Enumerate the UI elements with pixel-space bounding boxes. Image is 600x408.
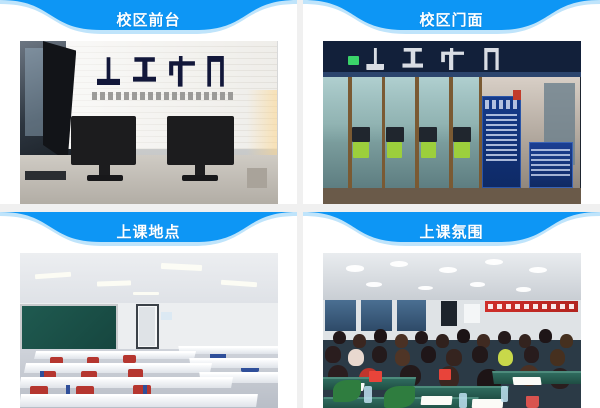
ribbon-banner: 上课氛围 [303, 212, 600, 250]
photo-dark-panel [441, 301, 456, 326]
photo-frame-classroom [20, 253, 278, 408]
photo-warm-glow [247, 90, 278, 165]
photo-frame-storefront [323, 41, 581, 204]
photo-floor [20, 155, 278, 204]
photo-attendee-head [348, 349, 363, 366]
photo-notebook [472, 399, 504, 408]
photo-ceiling-light [390, 261, 408, 267]
photo-attendee-head [421, 346, 436, 363]
photo-workstation [352, 127, 370, 142]
photo-notebook [420, 396, 452, 405]
photo-attendee-head [353, 334, 366, 348]
photo-window-blind [325, 300, 356, 331]
photo-attendee-head [498, 349, 513, 366]
reception-desk-photo [20, 41, 278, 204]
photo-tent-card [369, 371, 382, 382]
photo-window-mullion [415, 77, 419, 194]
photo-sign-english [92, 92, 236, 100]
photo-drink-cup [526, 396, 539, 408]
photo-workstation [453, 127, 471, 142]
photo-window-mullion [382, 77, 386, 194]
photo-water-bottle [459, 393, 467, 408]
empty-classroom-photo [20, 253, 278, 408]
photo-water-bottle [501, 386, 509, 402]
photo-ceiling-light [97, 280, 131, 286]
photo-sill [323, 188, 581, 204]
photo-notebook [513, 377, 542, 385]
photo-green-led [348, 56, 358, 66]
photo-attendee-head [395, 334, 408, 348]
card-campus-storefront[interactable]: 校区门面 [303, 0, 600, 204]
photo-sign-underglow [323, 72, 581, 77]
photo-water-bottle [364, 386, 372, 403]
photo-banner-stand-text [486, 114, 517, 163]
photo-banner-stand-small-text [531, 149, 570, 178]
card-classroom-location[interactable]: 上课地点 [0, 212, 297, 408]
photo-door-panel [139, 307, 154, 346]
ribbon-banner: 上课地点 [0, 212, 297, 250]
photo-tent-card [439, 369, 452, 380]
photo-green-chair [454, 142, 469, 158]
photo-banner-stand-header [485, 100, 519, 110]
ribbon-banner: 校区前台 [0, 0, 297, 38]
photo-keyboard [25, 171, 66, 179]
photo-ceiling-light [529, 267, 547, 273]
photo-desk-row [20, 377, 233, 388]
photo-chalkboard [20, 304, 118, 351]
photo-attendee-head [333, 331, 346, 345]
photo-ceiling-light [366, 282, 381, 287]
photo-attendee-head [457, 329, 470, 343]
photo-ceiling [323, 253, 581, 300]
photo-window-mullion [449, 77, 453, 194]
photo-plant [333, 380, 361, 402]
photo-green-chair [421, 142, 436, 158]
photo-window-blind [397, 300, 425, 331]
photo-window-blind [361, 300, 392, 331]
class-in-session-photo [323, 253, 581, 408]
photo-green-chair [387, 142, 402, 158]
ribbon-banner: 校区门面 [303, 0, 600, 38]
photo-monitor-left [71, 116, 136, 165]
photo-wall-poster [161, 312, 171, 320]
photo-monitor-right-base [182, 175, 218, 182]
photo-red-chair [123, 355, 136, 363]
photo-monitor-right [167, 116, 234, 165]
photo-monitor-left-base [87, 175, 123, 182]
photo-whiteboard [464, 304, 479, 323]
photo-attendee-head [524, 346, 539, 363]
card-classroom-atmosphere[interactable]: 上课氛围 [303, 212, 600, 408]
photo-ceiling-light [346, 265, 364, 271]
photo-frame-atmosphere [323, 253, 581, 408]
photo-attendee-head [436, 334, 449, 348]
photo-attendee-head [472, 346, 487, 363]
photo-attendee-head [498, 331, 511, 345]
photo-attendee-head [374, 329, 387, 343]
photo-ceiling-light [516, 287, 531, 292]
photo-ceiling [20, 253, 278, 303]
photo-attendee-head [560, 334, 573, 348]
photo-attendee-head [539, 329, 552, 343]
photo-grid: 校区前台 [0, 0, 600, 400]
photo-green-chair [353, 142, 368, 158]
photo-frame-reception [20, 41, 278, 204]
photo-red-banner-text [488, 304, 576, 309]
photo-attendee-head [372, 346, 387, 363]
card-campus-reception[interactable]: 校区前台 [0, 0, 297, 204]
photo-attendee-head [395, 349, 410, 366]
storefront-photo [323, 41, 581, 204]
photo-side-box [247, 168, 268, 188]
photo-workstation [419, 127, 437, 142]
photo-ceiling-light [439, 267, 457, 273]
photo-workstation [386, 127, 404, 142]
photo-desk-row [20, 394, 258, 407]
photo-ceiling-light [133, 292, 159, 295]
photo-attendee-head [446, 349, 461, 366]
photo-attendee-head [550, 349, 565, 366]
photo-attendee-head [415, 331, 428, 345]
photo-window-mullion [348, 77, 352, 194]
photo-red-light [513, 90, 521, 100]
photo-attendee-head [325, 346, 340, 363]
